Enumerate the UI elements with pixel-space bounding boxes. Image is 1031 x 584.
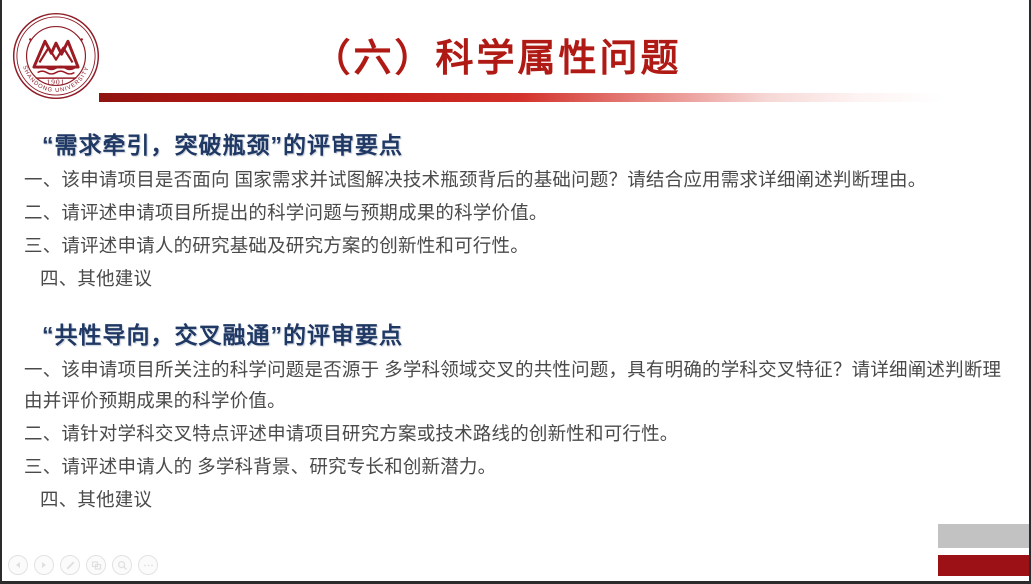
slide-overview-icon[interactable] <box>86 555 106 575</box>
section-needs-driven: “需求牵引，突破瓶颈”的评审要点 一、该申请项目是否面向 国家需求并试图解决技术… <box>2 126 1029 296</box>
previous-slide-icon[interactable] <box>8 555 28 575</box>
zoom-icon[interactable] <box>112 555 132 575</box>
pen-icon[interactable] <box>60 555 80 575</box>
shandong-university-seal-icon: 1901 SHANDONG UNIVERSITY <box>10 10 102 102</box>
section-interdisciplinary: “共性导向，交叉融通”的评审要点 一、该申请项目所关注的科学问题是否源于 多学科… <box>2 316 1029 517</box>
title-divider <box>99 93 979 102</box>
section-heading: “需求牵引，突破瓶颈”的评审要点 <box>42 126 1029 160</box>
decorative-red-bar <box>938 555 1031 576</box>
more-options-icon[interactable] <box>138 555 158 575</box>
list-item: 三、请评述申请人的研究基础及研究方案的创新性和可行性。 <box>2 232 1029 263</box>
list-item: 二、请评述申请项目所提出的科学问题与预期成果的科学价值。 <box>2 199 1029 230</box>
list-item: 四、其他建议 <box>2 486 1029 517</box>
presentation-slide: 1901 SHANDONG UNIVERSITY （六）科学属性问题 “需求牵引… <box>0 0 1031 584</box>
list-item: 三、请评述申请人的 多学科背景、研究专长和创新潜力。 <box>2 453 1029 484</box>
list-item: 一、该申请项目所关注的科学问题是否源于 多学科领域交叉的共性问题，具有明确的学科… <box>2 356 1029 418</box>
page-title: （六）科学属性问题 <box>177 27 817 82</box>
list-item: 四、其他建议 <box>2 265 1029 296</box>
list-item: 二、请针对学科交叉特点评述申请项目研究方案或技术路线的创新性和可行性。 <box>2 420 1029 451</box>
slide-body: “需求牵引，突破瓶颈”的评审要点 一、该申请项目是否面向 国家需求并试图解决技术… <box>2 116 1029 519</box>
decorative-gray-bar <box>938 524 1031 548</box>
slide-header: 1901 SHANDONG UNIVERSITY （六）科学属性问题 <box>2 0 1029 108</box>
svg-text:1901: 1901 <box>46 78 65 87</box>
section-heading: “共性导向，交叉融通”的评审要点 <box>42 316 1029 350</box>
slideshow-toolbar[interactable] <box>8 555 158 575</box>
next-slide-icon[interactable] <box>34 555 54 575</box>
list-item: 一、该申请项目是否面向 国家需求并试图解决技术瓶颈背后的基础问题？请结合应用需求… <box>2 166 1029 197</box>
